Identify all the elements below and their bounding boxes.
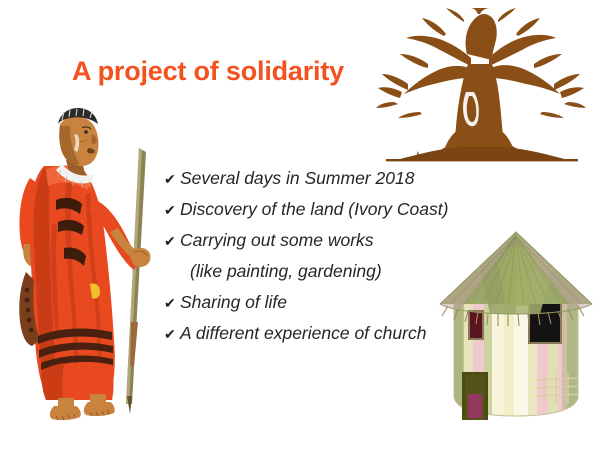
list-item-label: Discovery of the land (Ivory Coast)	[180, 199, 448, 220]
hut-window-small	[468, 310, 484, 340]
page-title: A project of solidarity	[72, 56, 344, 87]
hut-door	[462, 372, 488, 420]
list-item-label: A different experience of church	[180, 323, 426, 344]
list-item-label: Carrying out some works	[180, 230, 374, 251]
list-item-label: Sharing of life	[180, 292, 287, 313]
african-man-with-staff-illustration	[14, 104, 174, 424]
baobab-tree-illustration	[372, 8, 590, 166]
walking-staff	[126, 148, 146, 414]
slide-canvas: A project of solidarity	[0, 0, 600, 450]
list-item-label: Several days in Summer 2018	[180, 168, 414, 189]
round-thatched-hut-illustration	[432, 224, 600, 430]
list-item-label: (like painting, gardening)	[180, 261, 382, 282]
list-item: ✔ Several days in Summer 2018	[164, 168, 494, 199]
